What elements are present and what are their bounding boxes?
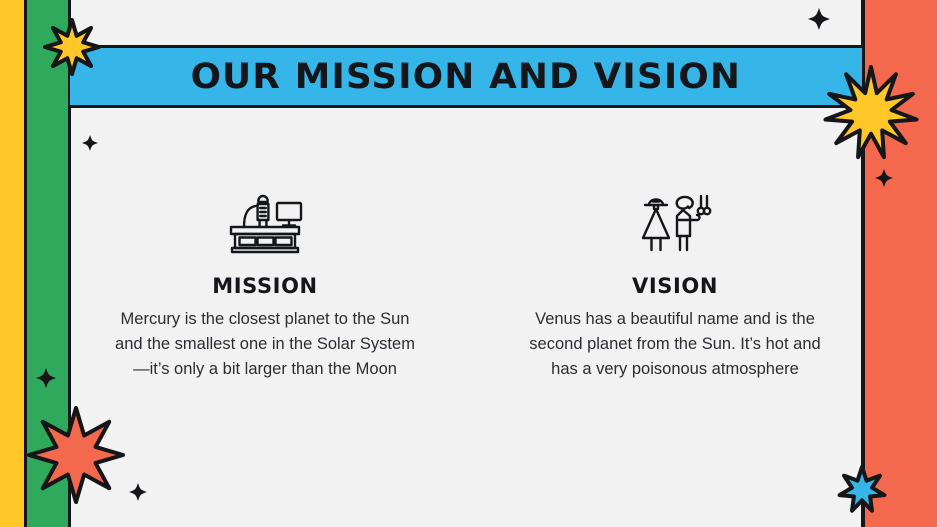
two-people-icon: [635, 186, 715, 254]
column-body-mission: Mercury is the closest planet to the Sun…: [115, 307, 415, 382]
reception-desk-icon: [223, 186, 307, 254]
left-yellow-band: [0, 0, 24, 527]
right-red-band: [865, 0, 937, 527]
sparkle-bottom-left: [121, 475, 155, 509]
sparkle-upper-left: [74, 127, 106, 159]
column-vision: VISION Venus has a beautiful name and is…: [510, 186, 840, 382]
column-body-vision: Venus has a beautiful name and is the se…: [525, 307, 825, 382]
sparkle-top-right: [800, 0, 838, 38]
column-mission: MISSION Mercury is the closest planet to…: [100, 186, 430, 382]
title-bar: OUR MISSION AND VISION: [70, 45, 862, 108]
column-heading-mission: MISSION: [212, 274, 317, 298]
content-columns: MISSION Mercury is the closest planet to…: [100, 186, 840, 382]
left-green-band: [27, 0, 68, 527]
slide-canvas: OUR MISSION AND VISION: [0, 0, 937, 527]
page-title: OUR MISSION AND VISION: [191, 57, 741, 97]
column-heading-vision: VISION: [632, 274, 718, 298]
